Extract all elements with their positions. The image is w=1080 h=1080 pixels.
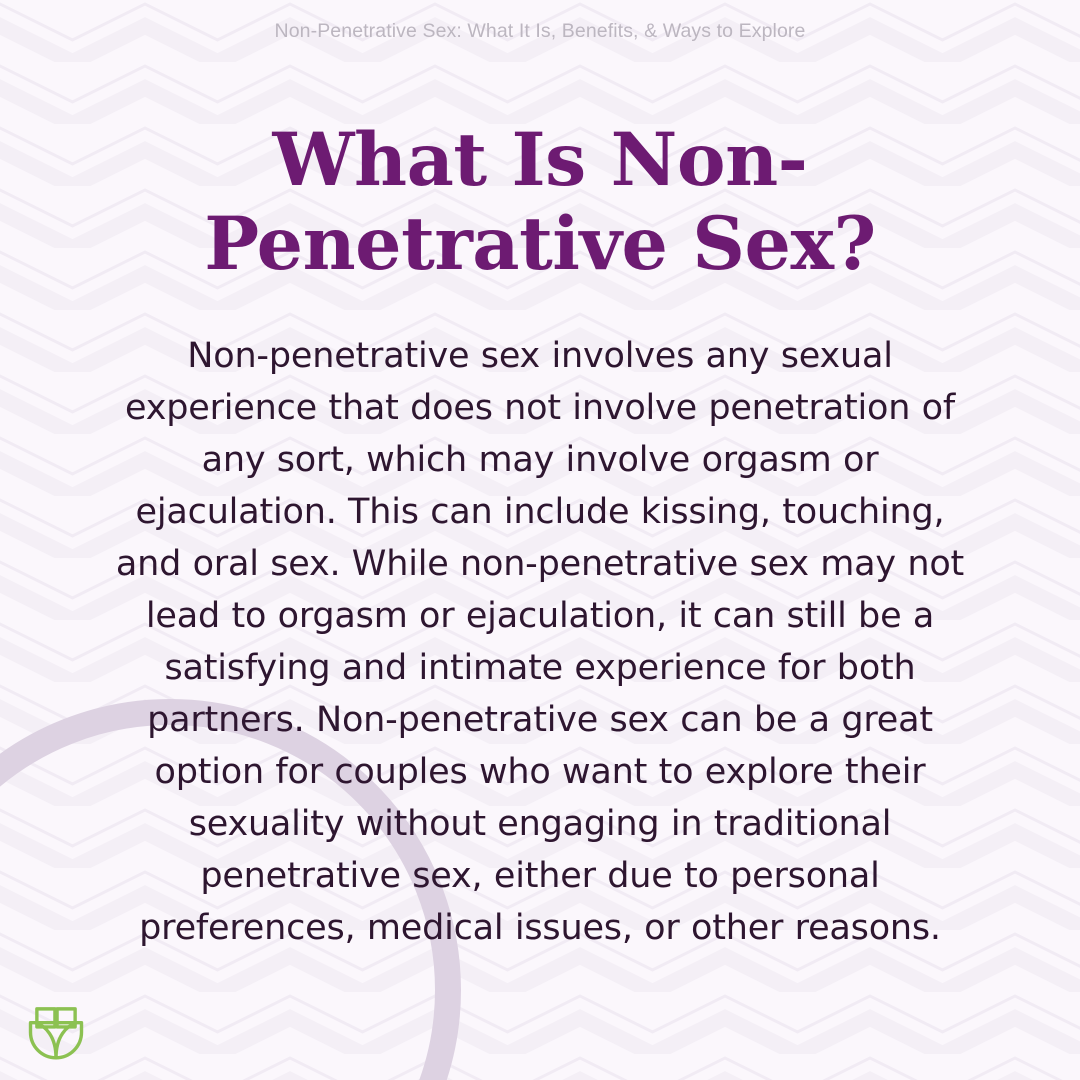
content-block: What Is Non-Penetrative Sex? Non-penetra… bbox=[78, 118, 1002, 954]
article-title-eyebrow: Non-Penetrative Sex: What It Is, Benefit… bbox=[275, 20, 806, 43]
social-card: Non-Penetrative Sex: What It Is, Benefit… bbox=[0, 0, 1080, 1080]
eyebrow-bar: Non-Penetrative Sex: What It Is, Benefit… bbox=[0, 0, 1080, 62]
body-paragraph: Non-penetrative sex involves any sexual … bbox=[78, 330, 1002, 954]
page-title: What Is Non-Penetrative Sex? bbox=[78, 118, 1002, 286]
lotus-flower-icon bbox=[22, 994, 90, 1062]
